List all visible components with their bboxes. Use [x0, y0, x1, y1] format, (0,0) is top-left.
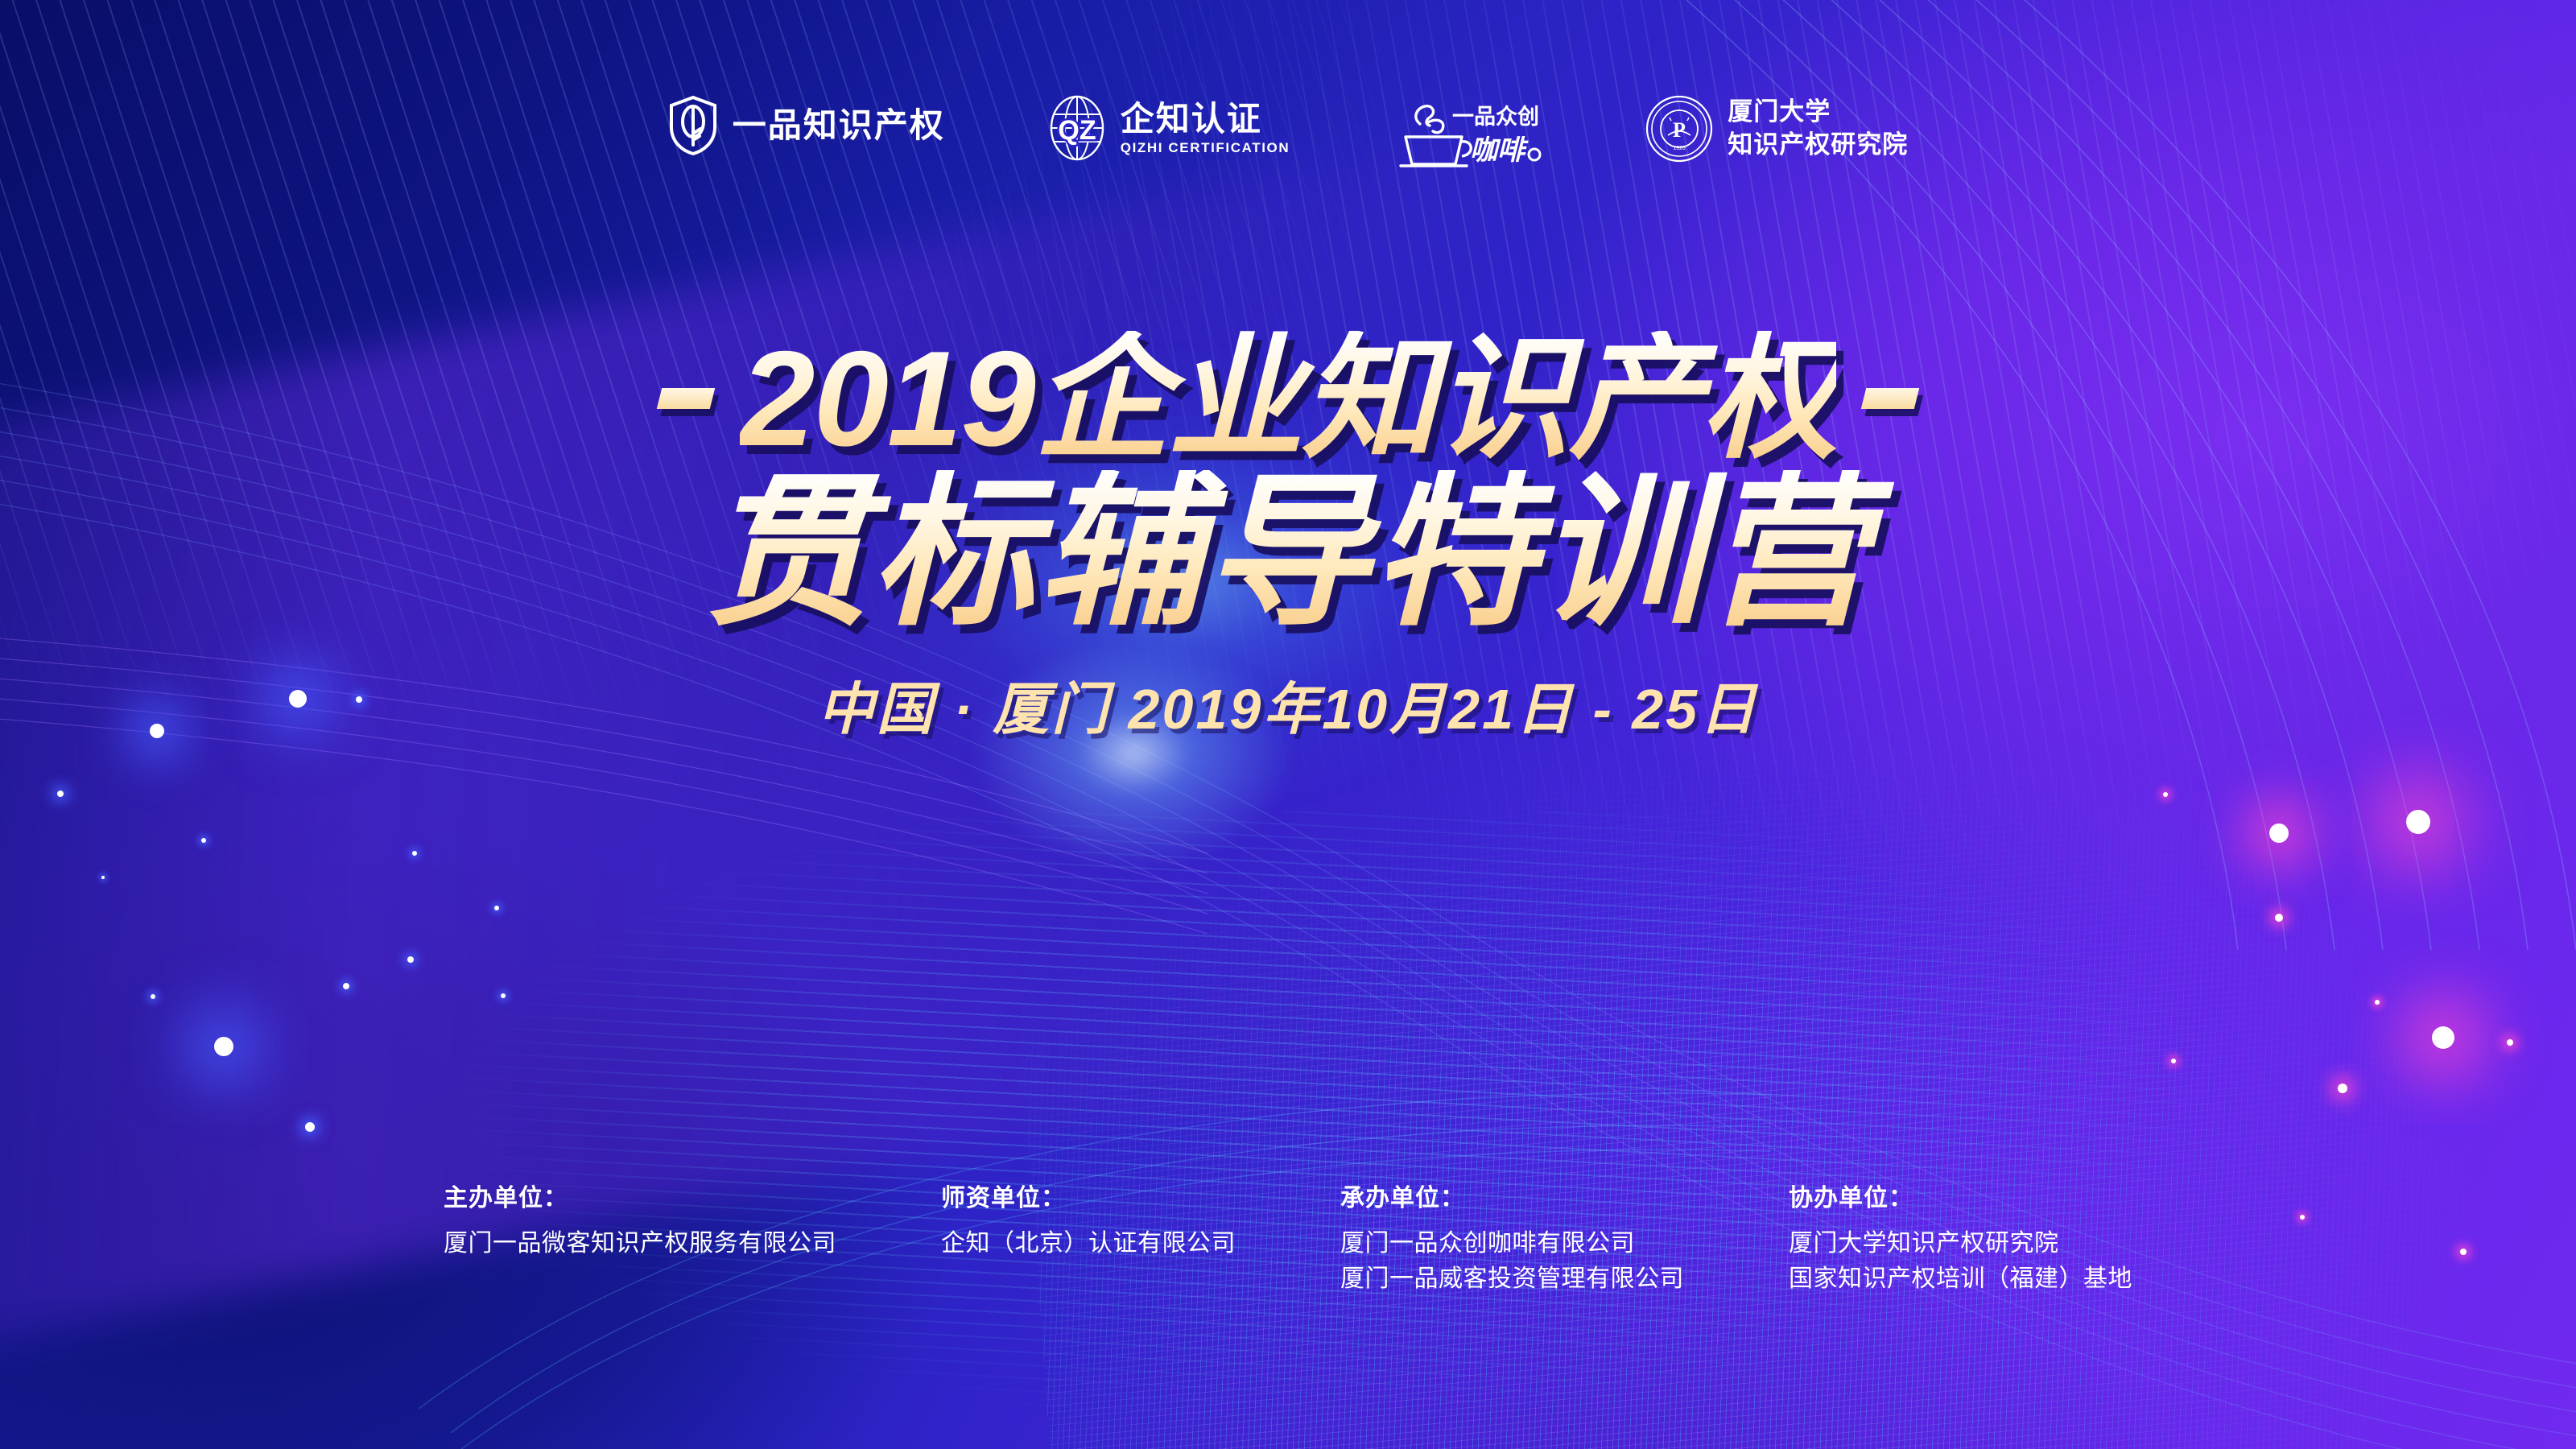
shield-leaf-icon [668, 95, 718, 156]
university-seal-icon: P 1926 [1645, 95, 1713, 163]
organizer-faculty: 师资单位： 企知（北京）认证有限公司 [941, 1178, 1236, 1296]
organizer-undertaker-line-1: 厦门一品众创咖啡有限公司 [1340, 1226, 1684, 1261]
sparkle-dot [2406, 810, 2430, 834]
logo-xiamen-university-text: 厦门大学 知识产权研究院 [1728, 99, 1908, 158]
dash-right-icon [1861, 388, 1919, 409]
logo-yipin-ip-cn: 一品知识产权 [733, 108, 945, 143]
sparkle-dot [501, 993, 506, 998]
sparkle-dot [201, 838, 206, 843]
organizer-coorganizer-line-1: 厦门大学知识产权研究院 [1789, 1226, 2132, 1261]
logo-yipin-ip-text: 一品知识产权 [733, 108, 945, 143]
coffee-cup-icon: 一品众创 咖啡 [1393, 95, 1542, 169]
sparkle-dot [2275, 914, 2283, 922]
sparkle-dot [412, 851, 417, 856]
sparkle-dot [214, 1037, 233, 1056]
sparkle-dot [494, 906, 499, 910]
title-line-2: 贯标辅导特训营 [0, 470, 2576, 635]
title-line-1-row: 2019企业知识产权 [0, 322, 2576, 475]
organizer-coorganizer-heading: 协办单位： [1789, 1178, 2132, 1213]
svg-text:P: P [1673, 118, 1686, 142]
logo-qizhi-cert[interactable]: QZ 企知认证 QIZHI CERTIFICATION [1048, 95, 1290, 161]
event-banner: 一品知识产权 QZ 企知认证 QIZHI CERTIFICATION [0, 0, 2576, 1449]
svg-text:QZ: QZ [1058, 115, 1096, 146]
sparkle-dot [57, 791, 64, 797]
organizer-undertaker-line-2: 厦门一品威客投资管理有限公司 [1340, 1261, 1684, 1297]
logo-xiamen-university-cn: 厦门大学 [1728, 99, 1908, 126]
sparkle-dot [151, 994, 155, 999]
globe-qz-icon: QZ [1048, 95, 1106, 161]
logo-xiamen-university-cn2: 知识产权研究院 [1728, 132, 1908, 159]
main-title-block: 2019企业知识产权 贯标辅导特训营 中国 · 厦门 2019年10月21日 -… [0, 322, 2576, 745]
sparkle-dot [2269, 824, 2289, 843]
organizer-faculty-line-1: 企知（北京）认证有限公司 [941, 1226, 1236, 1261]
title-line-1: 2019企业知识产权 [740, 331, 1836, 466]
organizer-undertaker: 承办单位： 厦门一品众创咖啡有限公司 厦门一品威客投资管理有限公司 [1340, 1178, 1684, 1296]
logo-qizhi-cert-text: 企知认证 QIZHI CERTIFICATION [1121, 101, 1290, 155]
sparkle-dot [2432, 1026, 2454, 1049]
sparkle-dot [2375, 1000, 2380, 1005]
organizer-columns: 主办单位： 厦门一品微客知识产权服务有限公司 师资单位： 企知（北京）认证有限公… [0, 1178, 2576, 1296]
sparkle-dot [2163, 792, 2168, 797]
event-subtitle: 中国 · 厦门 2019年10月21日 - 25日 [0, 664, 2576, 745]
organizer-coorganizer-line-2: 国家知识产权培训（福建）基地 [1789, 1261, 2132, 1297]
sparkle-dot [305, 1122, 315, 1132]
logo-yipin-coffee[interactable]: 一品众创 咖啡 [1393, 95, 1542, 169]
organizer-faculty-heading: 师资单位： [941, 1178, 1236, 1213]
sparkle-dot [2171, 1059, 2176, 1063]
dash-left-icon [657, 388, 715, 409]
sparkle-dot [2338, 1084, 2347, 1093]
svg-text:咖啡: 咖啡 [1470, 135, 1529, 166]
svg-text:一品众创: 一品众创 [1452, 105, 1539, 129]
logo-yipin-ip[interactable]: 一品知识产权 [668, 95, 945, 156]
logo-xiamen-university[interactable]: P 1926 厦门大学 知识产权研究院 [1645, 95, 1908, 163]
sparkle-dot [101, 876, 105, 879]
organizer-host-line-1: 厦门一品微客知识产权服务有限公司 [444, 1226, 836, 1261]
organizer-host-heading: 主办单位： [444, 1178, 836, 1213]
sparkle-dot [343, 983, 349, 989]
organizer-coorganizer: 协办单位： 厦门大学知识产权研究院 国家知识产权培训（福建）基地 [1789, 1178, 2132, 1296]
sparkle-dot [2507, 1039, 2513, 1046]
partner-logo-row: 一品知识产权 QZ 企知认证 QIZHI CERTIFICATION [0, 95, 2576, 169]
logo-qizhi-cert-en: QIZHI CERTIFICATION [1121, 141, 1290, 155]
svg-text:1926: 1926 [1673, 146, 1686, 151]
logo-qizhi-cert-cn: 企知认证 [1121, 101, 1290, 137]
sparkle-dot [407, 956, 414, 963]
organizer-host: 主办单位： 厦门一品微客知识产权服务有限公司 [444, 1178, 836, 1296]
organizer-undertaker-heading: 承办单位： [1340, 1178, 1684, 1213]
